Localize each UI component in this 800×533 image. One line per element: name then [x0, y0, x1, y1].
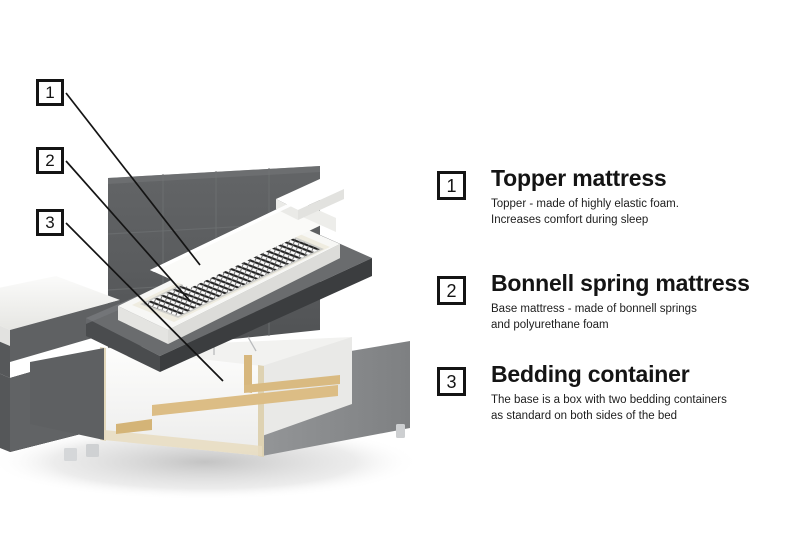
legend-item-bedding-container: 3 Bedding container The base is a box wi…: [437, 362, 800, 425]
legend-badge-1: 1: [437, 171, 466, 200]
legend-description-line: Topper - made of highly elastic foam.: [491, 197, 679, 213]
legend-panel: 1 Topper mattress Topper - made of highl…: [437, 0, 800, 533]
callout-badge-1: 1: [36, 79, 64, 106]
bed-foot: [64, 448, 77, 461]
legend-description: The base is a box with two bedding conta…: [491, 393, 727, 425]
legend-title: Topper mattress: [491, 166, 679, 191]
legend-description-line: as standard on both sides of the bed: [491, 409, 727, 425]
legend-badge-3: 3: [437, 367, 466, 396]
legend-title: Bedding container: [491, 362, 727, 387]
legend-description-line: Base mattress - made of bonnell springs: [491, 302, 750, 318]
legend-text-block: Bedding container The base is a box with…: [491, 362, 727, 425]
legend-item-topper-mattress: 1 Topper mattress Topper - made of highl…: [437, 166, 800, 229]
callout-badge-3: 3: [36, 209, 64, 236]
legend-description: Base mattress - made of bonnell springs …: [491, 302, 750, 334]
legend-description-line: Increases comfort during sleep: [491, 213, 679, 229]
legend-description-line: and polyurethane foam: [491, 318, 750, 334]
legend-text-block: Topper mattress Topper - made of highly …: [491, 166, 679, 229]
infographic-page: 1 2 3 1 Topper mattress Topper - made of…: [0, 0, 800, 533]
legend-title: Bonnell spring mattress: [491, 271, 750, 296]
bed-foot: [86, 444, 99, 457]
bed-illustration: 1 2 3: [0, 0, 430, 533]
legend-description: Topper - made of highly elastic foam. In…: [491, 197, 679, 229]
bed-foot: [396, 424, 405, 438]
legend-text-block: Bonnell spring mattress Base mattress - …: [491, 271, 750, 334]
legend-badge-2: 2: [437, 276, 466, 305]
legend-item-bonnell-spring-mattress: 2 Bonnell spring mattress Base mattress …: [437, 271, 800, 334]
callout-badge-2: 2: [36, 147, 64, 174]
legend-description-line: The base is a box with two bedding conta…: [491, 393, 727, 409]
